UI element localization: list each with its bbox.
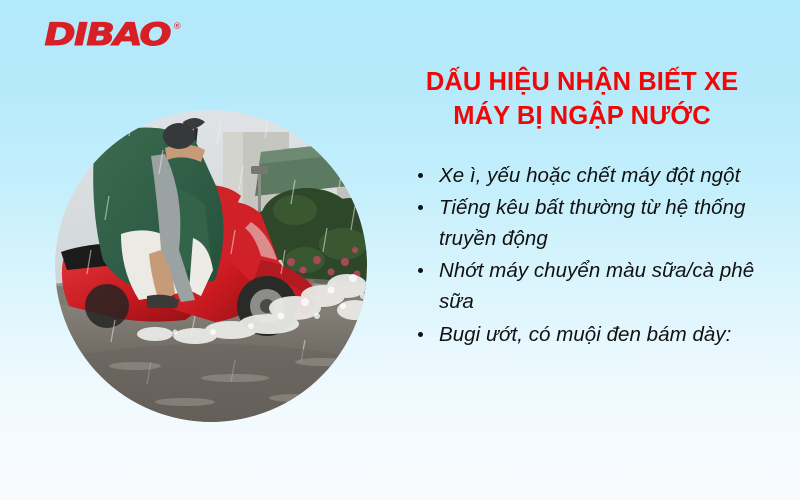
brand-logo[interactable]: DIBAO ®	[44, 20, 182, 51]
list-item: Nhớt máy chuyển màu sữa/cà phê sữa	[418, 255, 772, 317]
page-title: DẤU HIỆU NHẬN BIẾT XE MÁY BỊ NGẬP NƯỚC	[392, 66, 772, 134]
slide-canvas: DIBAO ®	[0, 0, 800, 500]
list-item: Xe ì, yếu hoặc chết máy đột ngột	[418, 160, 772, 191]
brand-logo-text: DIBAO	[44, 20, 170, 51]
symptom-list: Xe ì, yếu hoặc chết máy đột ngột Tiếng k…	[392, 160, 772, 350]
registered-trademark-icon: ®	[173, 22, 182, 32]
photo-illustration	[55, 110, 367, 422]
flooded-scooter-photo	[55, 110, 367, 422]
list-item: Bugi ướt, có muội đen bám dày:	[418, 319, 772, 350]
list-item: Tiếng kêu bất thường từ hệ thống truyền …	[418, 192, 772, 254]
content-column: DẤU HIỆU NHẬN BIẾT XE MÁY BỊ NGẬP NƯỚC X…	[392, 66, 772, 351]
